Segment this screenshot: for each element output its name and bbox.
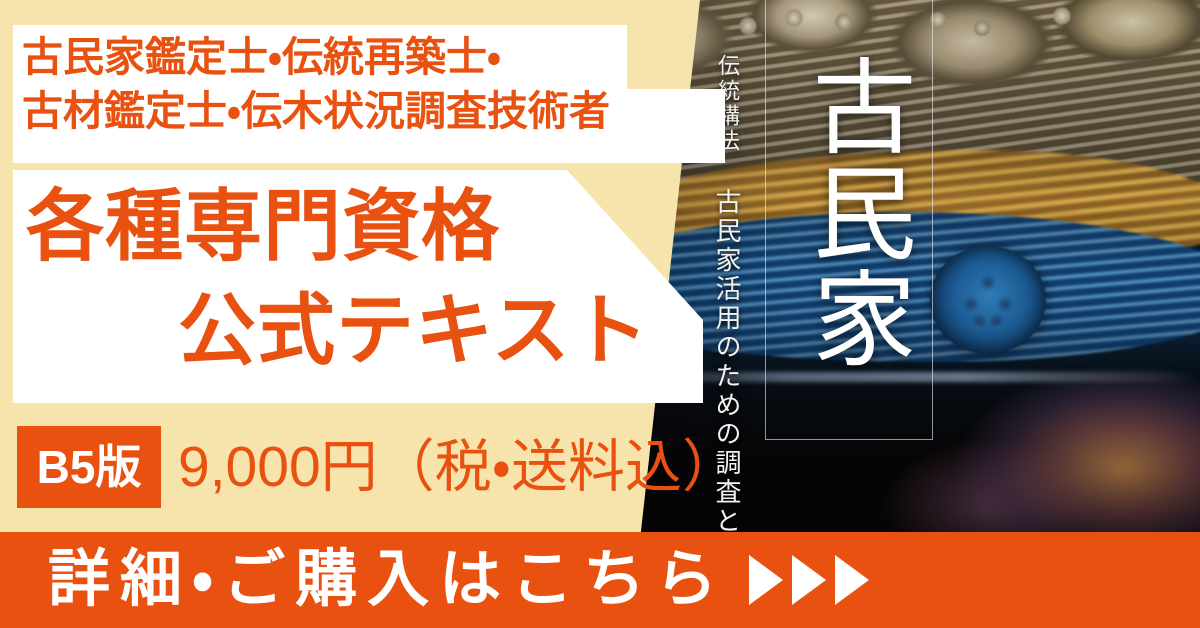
book-cover-title: 古民家 xyxy=(777,12,917,412)
qualifications-text: 古民家鑑定士・伝統再築士・ 古材鑑定士・伝木状況調査技術者 xyxy=(22,30,610,138)
cta-bar[interactable]: 詳細・ご購入はこちら xyxy=(0,532,1200,628)
promo-banner: 古民家 伝統構法 古民家活用のための調査と再生の 古民家鑑定士・伝統再築士・ 古… xyxy=(0,0,1200,628)
triangle-right-icon xyxy=(835,555,869,605)
price-text: 9,000円（税・送料込） xyxy=(178,432,739,503)
headline-line-2: 公式テキスト xyxy=(178,291,650,369)
format-badge: B5版 xyxy=(17,426,161,508)
headline-line-1: 各種専門資格 xyxy=(26,187,500,265)
cta-label: 詳細・ご購入はこちら xyxy=(48,549,727,611)
format-badge-label: B5版 xyxy=(37,444,142,490)
triangle-right-icon xyxy=(792,555,826,605)
triangle-right-icon xyxy=(749,555,783,605)
cta-arrow-group xyxy=(749,555,869,605)
